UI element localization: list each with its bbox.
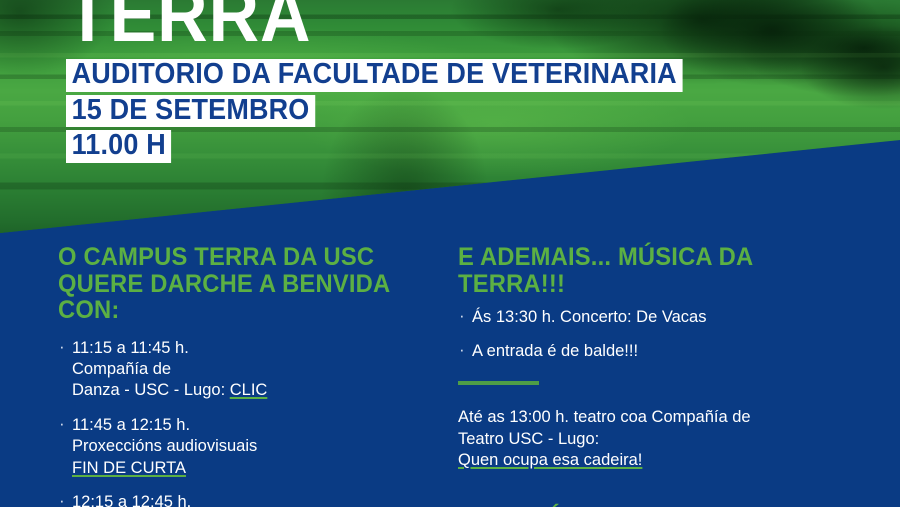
poster-title: TERRA	[66, 0, 676, 45]
music-item-text: A entrada é de balde!!!	[472, 341, 858, 362]
item-detail: Proxeccións audiovisuais	[72, 436, 418, 457]
right-column-heading: E ADEMAIS... MÚSICA DA TERRA!!!	[458, 244, 838, 297]
theatre-paragraph: Até as 13:00 h. teatro coa Compañía de T…	[458, 407, 858, 472]
right-column: E ADEMAIS... MÚSICA DA TERRA!!! Ás 13:30…	[458, 244, 858, 507]
theatre-line-2: Teatro USC - Lugo:	[458, 429, 858, 451]
item-detail-link-line: FIN DE CURTA	[72, 458, 418, 479]
item-time: 12:15 a 12:45 h.	[72, 492, 418, 507]
theatre-line-1: Até as 13:00 h. teatro coa Compañía de	[458, 407, 858, 429]
left-column: O CAMPUS TERRA DA USC QUERE DARCHE A BEN…	[58, 244, 418, 507]
hero-text-block: TERRA AUDITORIO DA FACULTADE DE VETERINA…	[66, 0, 729, 166]
date-line: 15 DE SETEMBRO	[66, 95, 315, 128]
item-detail: Compañía de	[72, 359, 418, 380]
venue-line: AUDITORIO DA FACULTADE DE VETERINARIA	[66, 59, 682, 92]
poster-canvas: TERRA AUDITORIO DA FACULTADE DE VETERINA…	[0, 0, 900, 507]
music-item-text: Ás 13:30 h. Concerto: De Vacas	[472, 307, 858, 328]
left-column-heading: O CAMPUS TERRA DA USC QUERE DARCHE A BEN…	[58, 244, 400, 324]
content-columns: O CAMPUS TERRA DA USC QUERE DARCHE A BEN…	[0, 244, 900, 507]
item-link[interactable]: FIN DE CURTA	[72, 459, 186, 477]
item-time: 11:15 a 11:45 h.	[72, 338, 418, 359]
item-detail-prefix: Danza - USC - Lugo:	[72, 381, 230, 399]
list-item: 11:15 a 11:45 h. Compañía de Danza - USC…	[58, 338, 418, 402]
programme-list: 11:15 a 11:45 h. Compañía de Danza - USC…	[58, 338, 418, 507]
item-link[interactable]: CLIC	[230, 381, 268, 399]
section-divider	[458, 381, 539, 385]
item-time: 11:45 a 12:15 h.	[72, 415, 418, 436]
list-item: 12:15 a 12:45 h. Taller aberto Bailes La…	[58, 492, 418, 507]
list-item: 11:45 a 12:15 h. Proxeccións audiovisuai…	[58, 415, 418, 479]
list-item: A entrada é de balde!!!	[458, 341, 858, 362]
item-detail-link-line: Danza - USC - Lugo: CLIC	[72, 380, 418, 401]
list-item: Ás 13:30 h. Concerto: De Vacas	[458, 307, 858, 328]
theatre-play-link[interactable]: Quen ocupa esa cadeira!	[458, 450, 858, 472]
music-list: Ás 13:30 h. Concerto: De Vacas A entrada…	[458, 307, 858, 363]
time-line: 11.00 H	[66, 130, 171, 163]
